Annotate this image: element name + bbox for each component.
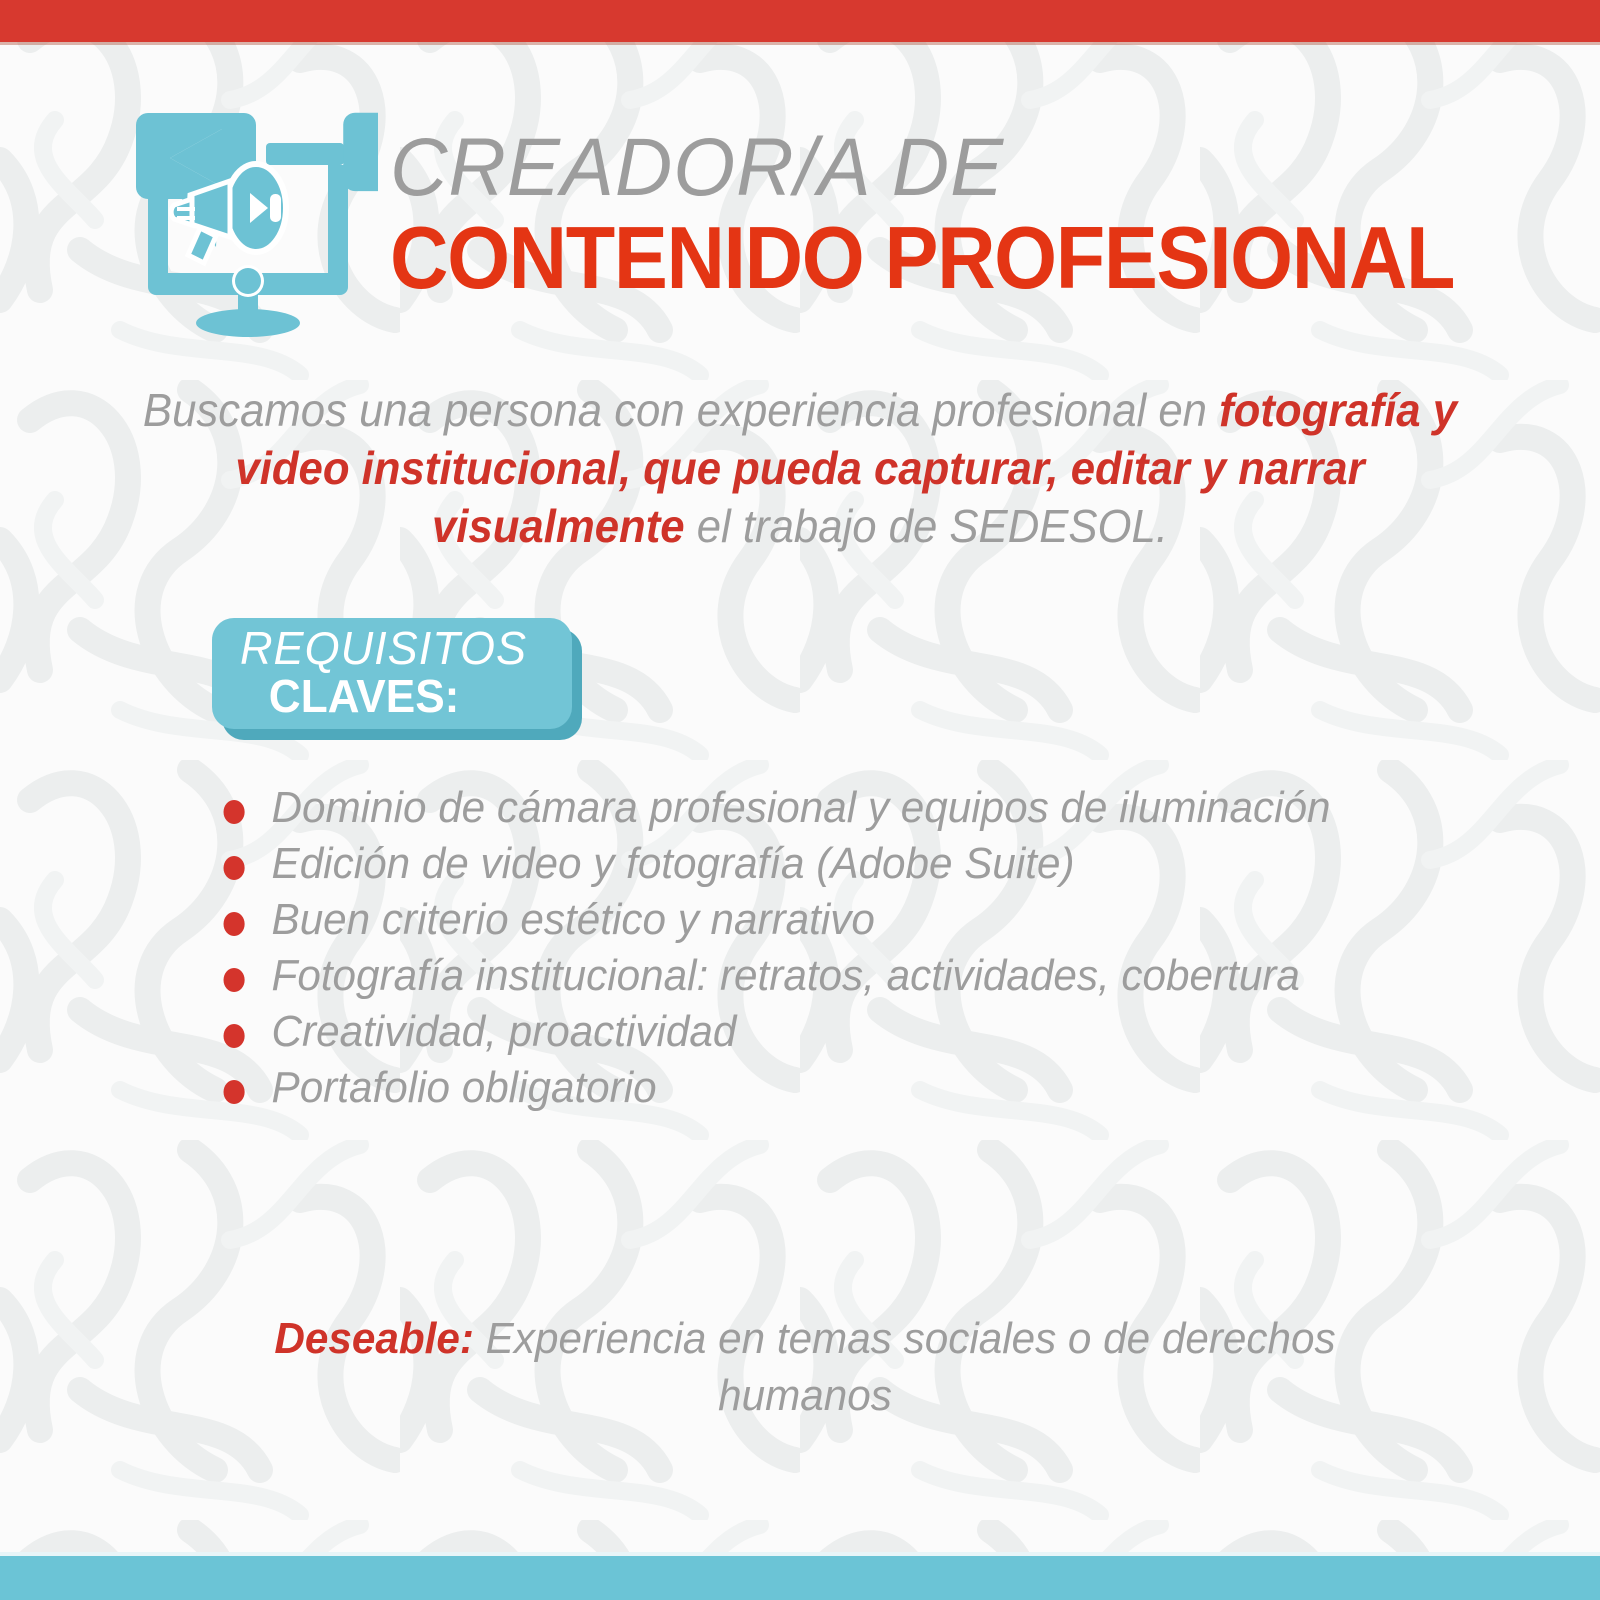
list-item-label: Buen criterio estético y narrativo — [272, 895, 875, 944]
bullet-dot-icon — [224, 912, 245, 936]
list-item: Buen criterio estético y narrativo — [212, 894, 1345, 946]
badge-label-claves: CLAVES: — [240, 672, 559, 720]
deseable-text: Experiencia en temas sociales o de derec… — [486, 1314, 1336, 1420]
monitor-megaphone-icon — [118, 95, 378, 340]
bullet-dot-icon — [224, 1080, 245, 1104]
list-item: Dominio de cámara profesional y equipos … — [212, 782, 1345, 834]
requisitos-badge: REQUISITOS CLAVES: — [212, 618, 582, 740]
list-item: Edición de video y fotografía (Adobe Sui… — [212, 838, 1345, 890]
bullet-dot-icon — [224, 968, 245, 992]
list-item-label: Portafolio obligatorio — [272, 1063, 657, 1112]
deseable-label: Deseable: — [274, 1314, 474, 1363]
title-block: CREADOR/A DE CONTENIDO PROFESIONAL — [390, 95, 1547, 303]
page-title-line1: CREADOR/A DE — [390, 127, 1512, 209]
poster-header: CREADOR/A DE CONTENIDO PROFESIONAL — [118, 95, 1478, 345]
badge-label-requisitos: REQUISITOS — [240, 624, 565, 672]
deseable-note: Deseable: Experiencia en temas sociales … — [205, 1310, 1405, 1424]
bullet-dot-icon — [224, 856, 245, 880]
intro-part1: Buscamos una persona con experiencia pro… — [143, 384, 1207, 436]
badge-body: REQUISITOS CLAVES: — [212, 618, 572, 729]
top-band-shadow — [0, 42, 1600, 45]
intro-part2: el trabajo de SEDESOL. — [697, 500, 1168, 552]
job-posting-poster: CREADOR/A DE CONTENIDO PROFESIONAL Busca… — [0, 0, 1600, 1600]
intro-paragraph: Buscamos una persona con experiencia pro… — [135, 382, 1465, 556]
list-item-label: Dominio de cámara profesional y equipos … — [272, 783, 1331, 832]
page-title-line2: CONTENIDO PROFESIONAL — [390, 213, 1454, 303]
list-item-label: Fotografía institucional: retratos, acti… — [272, 951, 1300, 1000]
list-item: Fotografía institucional: retratos, acti… — [212, 950, 1345, 1002]
top-red-band — [0, 0, 1600, 42]
list-item-label: Creatividad, proactividad — [272, 1007, 737, 1056]
bullet-dot-icon — [224, 800, 245, 824]
bottom-teal-band — [0, 1556, 1600, 1600]
bullet-dot-icon — [224, 1024, 245, 1048]
list-item: Portafolio obligatorio — [212, 1062, 1345, 1114]
list-item-label: Edición de video y fotografía (Adobe Sui… — [272, 839, 1075, 888]
requirements-list: Dominio de cámara profesional y equipos … — [212, 782, 1392, 1117]
list-item: Creatividad, proactividad — [212, 1006, 1345, 1058]
